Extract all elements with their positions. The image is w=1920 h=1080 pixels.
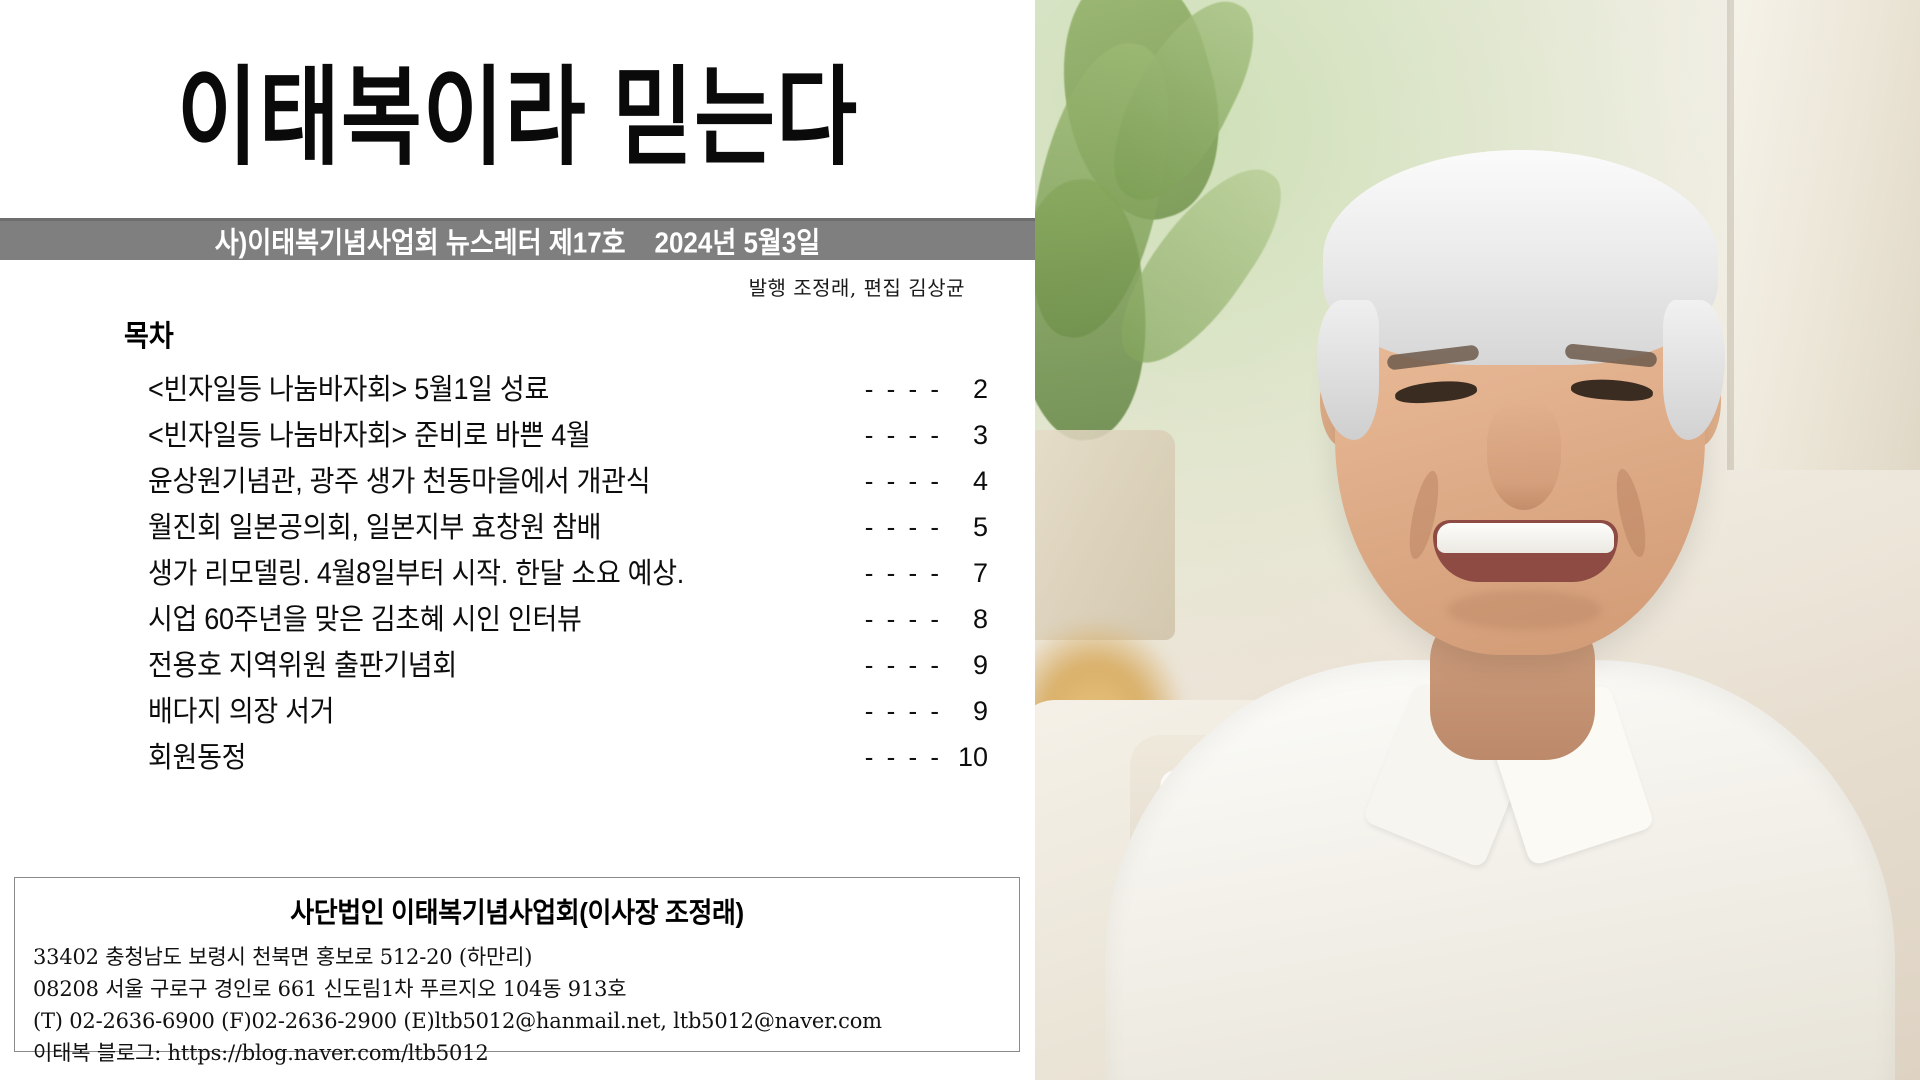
toc-leader-dots: - - - - <box>865 650 948 681</box>
nose <box>1487 400 1561 510</box>
toc-entry-title: 월진회 일본공의회, 일본지부 효창원 참배 <box>148 503 601 545</box>
organization-contact-line: 08208 서울 구로구 경인로 661 신도림1차 푸르지오 104동 913… <box>33 973 1001 1005</box>
toc-row[interactable]: 회원동정- - - -10 <box>148 735 988 781</box>
toc-leader-dots: - - - - <box>865 742 948 773</box>
toc-leader-dots: - - - - <box>865 558 948 589</box>
toc-row[interactable]: 전용호 지역위원 출판기념회- - - -9 <box>148 643 988 689</box>
issue-banner-text: 사)이태복기념사업회 뉴스레터 제17호 2024년 5월3일 <box>215 220 820 261</box>
toc-entry-title: 생가 리모델링. 4월8일부터 시작. 한달 소요 예상. <box>148 549 684 591</box>
toc-leader-dots: - - - - <box>865 420 948 451</box>
toc-entry-title: 회원동정 <box>148 733 246 775</box>
toc-page-number: 7 <box>948 558 988 589</box>
chin-shadow <box>1447 590 1602 630</box>
organization-contact-line: 33402 충청남도 보령시 천북면 홍보로 512-20 (하만리) <box>33 941 1001 973</box>
organization-name: 사단법인 이태복기념사업회(이사장 조정래) <box>33 891 1001 931</box>
toc-leader-dots: - - - - <box>865 604 948 635</box>
toc-leader-dots: - - - - <box>865 466 948 497</box>
toc-entry-title: 배다지 의장 서거 <box>148 687 334 729</box>
toc-leader-dots: - - - - <box>865 512 948 543</box>
toc-page-number: 2 <box>948 374 988 405</box>
toc-row[interactable]: 시업 60주년을 맞은 김초혜 시인 인터뷰- - - -8 <box>148 597 988 643</box>
toc-entry-title: 윤상원기념관, 광주 생가 천동마을에서 개관식 <box>148 457 650 499</box>
window-panel <box>1730 0 1920 470</box>
toc-row[interactable]: 배다지 의장 서거- - - -9 <box>148 689 988 735</box>
window-frame-edge <box>1727 0 1734 470</box>
toc-row[interactable]: 생가 리모델링. 4월8일부터 시작. 한달 소요 예상.- - - -7 <box>148 551 988 597</box>
toc-heading: 목차 <box>124 312 1035 355</box>
toc-row[interactable]: 월진회 일본공의회, 일본지부 효창원 참배- - - -5 <box>148 505 988 551</box>
organization-info-box: 사단법인 이태복기념사업회(이사장 조정래) 33402 충청남도 보령시 천북… <box>14 877 1020 1052</box>
hair <box>1323 150 1718 365</box>
organization-contact-line: 이태복 블로그: https://blog.naver.com/ltb5012 <box>33 1037 1001 1069</box>
toc-page-number: 10 <box>948 742 988 773</box>
issue-banner: 사)이태복기념사업회 뉴스레터 제17호 2024년 5월3일 <box>0 218 1035 260</box>
toc-row[interactable]: <빈자일등 나눔바자회> 준비로 바쁜 4월- - - -3 <box>148 413 988 459</box>
toc-page-number: 9 <box>948 650 988 681</box>
toc-page-number: 8 <box>948 604 988 635</box>
toc-entry-title: 시업 60주년을 맞은 김초혜 시인 인터뷰 <box>148 595 582 637</box>
toc-row[interactable]: 윤상원기념관, 광주 생가 천동마을에서 개관식- - - -4 <box>148 459 988 505</box>
toc-entry-title: <빈자일등 나눔바자회> 준비로 바쁜 4월 <box>148 411 591 453</box>
plant-pot <box>1035 430 1175 640</box>
toc-row[interactable]: <빈자일등 나눔바자회> 5월1일 성료- - - -2 <box>148 367 988 413</box>
toc-page-number: 3 <box>948 420 988 451</box>
toc-page-number: 4 <box>948 466 988 497</box>
toc-entry-title: <빈자일등 나눔바자회> 5월1일 성료 <box>148 365 549 407</box>
page-title: 이태복이라 믿는다 <box>0 62 1035 175</box>
toc-entry-title: 전용호 지역위원 출판기념회 <box>148 641 457 683</box>
toc-leader-dots: - - - - <box>865 696 948 727</box>
toc-page-number: 9 <box>948 696 988 727</box>
toc-page-number: 5 <box>948 512 988 543</box>
portrait-photo <box>1035 0 1920 1080</box>
publisher-credits: 발행 조정래, 편집 김상균 <box>0 272 965 301</box>
toc-leader-dots: - - - - <box>865 374 948 405</box>
teeth <box>1437 523 1614 553</box>
left-text-column: 이태복이라 믿는다 사)이태복기념사업회 뉴스레터 제17호 2024년 5월3… <box>0 0 1035 1080</box>
organization-contact-lines: 33402 충청남도 보령시 천북면 홍보로 512-20 (하만리)08208… <box>33 941 1001 1069</box>
organization-contact-line: (T) 02-2636-6900 (F)02-2636-2900 (E)ltb5… <box>33 1005 1001 1037</box>
table-of-contents: 목차 <빈자일등 나눔바자회> 5월1일 성료- - - -2<빈자일등 나눔바… <box>0 312 1035 781</box>
newsletter-cover-page: 이태복이라 믿는다 사)이태복기념사업회 뉴스레터 제17호 2024년 5월3… <box>0 0 1920 1080</box>
toc-list: <빈자일등 나눔바자회> 5월1일 성료- - - -2<빈자일등 나눔바자회>… <box>0 367 1035 781</box>
mouth <box>1433 520 1618 582</box>
